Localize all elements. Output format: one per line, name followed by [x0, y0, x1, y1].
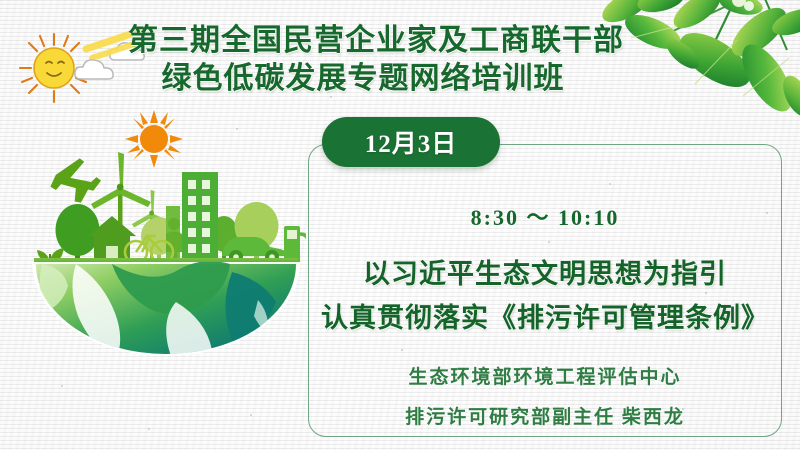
- globe-hemisphere: [32, 261, 300, 365]
- session-panel: 8:30 ～ 10:10 以习近平生态文明思想为指引 认真贯彻落实《排污许可管理…: [308, 144, 782, 437]
- leaf-decoration-icon: [591, 0, 800, 127]
- building-icon: [182, 172, 218, 264]
- session-speaker: 排污许可研究部副主任 柴西龙: [308, 402, 782, 429]
- headline-line-1: 第三期全国民营企业家及工商联干部: [128, 22, 598, 60]
- eco-globe-illustration: [26, 150, 306, 365]
- session-topic-line-1: 以习近平生态文明思想为指引: [308, 252, 782, 291]
- session-organization: 生态环境部环境工程评估中心: [308, 362, 782, 389]
- airplane-icon: [47, 156, 104, 207]
- session-topic-line-2: 认真贯彻落实《排污许可管理条例》: [308, 296, 782, 335]
- session-time: 8:30 ～ 10:10: [308, 200, 782, 232]
- poster-headline: 第三期全国民营企业家及工商联干部 绿色低碳发展专题网络培训班: [128, 22, 598, 98]
- headline-line-2: 绿色低碳发展专题网络培训班: [128, 60, 598, 98]
- poster-canvas: 第三期全国民营企业家及工商联干部 绿色低碳发展专题网络培训班 12月3日 8:3…: [0, 0, 800, 450]
